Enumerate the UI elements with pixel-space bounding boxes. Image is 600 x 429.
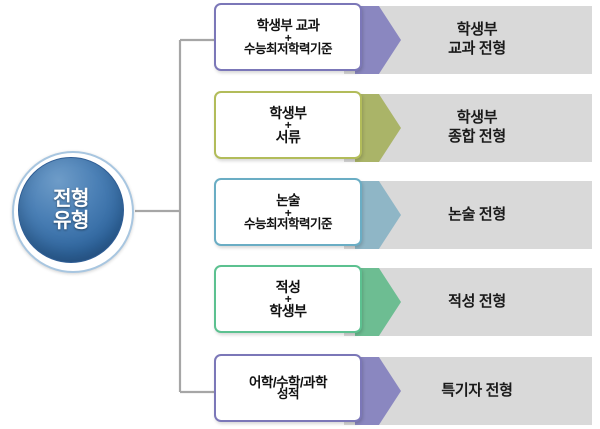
criteria-text-4: 적성 + 학생부: [269, 280, 306, 318]
criteria-text-2: 학생부 + 서류: [269, 106, 306, 144]
result-label-3: 논술 전형: [412, 206, 542, 225]
row-haksaengbu-gyogwa: 학생부 교과 전형 학생부 교과 + 수능최저학력기준: [214, 3, 592, 77]
result-label-2-line2: 종합 전형: [448, 128, 506, 145]
row-haksaengbu-jonghap: 학생부 종합 전형 학생부 + 서류: [214, 91, 592, 165]
criteria-text-3: 논술 + 수능최저학력기준: [244, 194, 332, 230]
criteria-text-4-line2: 학생부: [269, 304, 306, 318]
result-label-3-line1: 논술 전형: [448, 206, 506, 223]
result-label-1-line1: 학생부: [457, 21, 498, 38]
criteria-text-3-line2: 수능최저학력기준: [244, 218, 332, 231]
result-label-1-line2: 교과 전형: [448, 40, 506, 57]
criteria-text-1-line2: 수능최저학력기준: [244, 43, 332, 56]
criteria-text-1: 학생부 교과 + 수능최저학력기준: [244, 19, 332, 55]
result-label-2: 학생부 종합 전형: [412, 109, 542, 147]
result-label-5: 특기자 전형: [412, 382, 542, 401]
admission-type-diagram: 전형 유형 학생부 교과 전형 학생부 교과 + 수능최저학력기준 학생부 종합…: [0, 0, 600, 429]
criteria-box-1[interactable]: 학생부 교과 + 수능최저학력기준: [214, 3, 362, 71]
result-label-4-line1: 적성 전형: [448, 293, 506, 310]
criteria-text-5-line2: 성적: [249, 388, 327, 401]
criteria-box-5[interactable]: 어학/수학/과학 성적: [214, 354, 362, 422]
root-node-label-line1: 전형: [53, 188, 89, 210]
row-nonsul: 논술 전형 논술 + 수능최저학력기준: [214, 178, 592, 252]
criteria-box-4[interactable]: 적성 + 학생부: [214, 265, 362, 333]
result-label-1: 학생부 교과 전형: [412, 21, 542, 59]
root-node-admission-type: 전형 유형: [12, 151, 134, 273]
criteria-text-2-line2: 서류: [269, 130, 306, 144]
row-teukgija: 특기자 전형 어학/수학/과학 성적: [214, 354, 592, 428]
result-label-4: 적성 전형: [412, 293, 542, 312]
root-node-disc: 전형 유형: [18, 157, 124, 263]
result-label-5-line1: 특기자 전형: [441, 382, 512, 399]
criteria-box-3[interactable]: 논술 + 수능최저학력기준: [214, 178, 362, 246]
criteria-text-5: 어학/수학/과학 성적: [249, 376, 327, 401]
criteria-box-2[interactable]: 학생부 + 서류: [214, 91, 362, 159]
root-node-label-line2: 유형: [53, 210, 89, 232]
row-jeokseong: 적성 전형 적성 + 학생부: [214, 265, 592, 339]
result-label-2-line1: 학생부: [457, 109, 498, 126]
